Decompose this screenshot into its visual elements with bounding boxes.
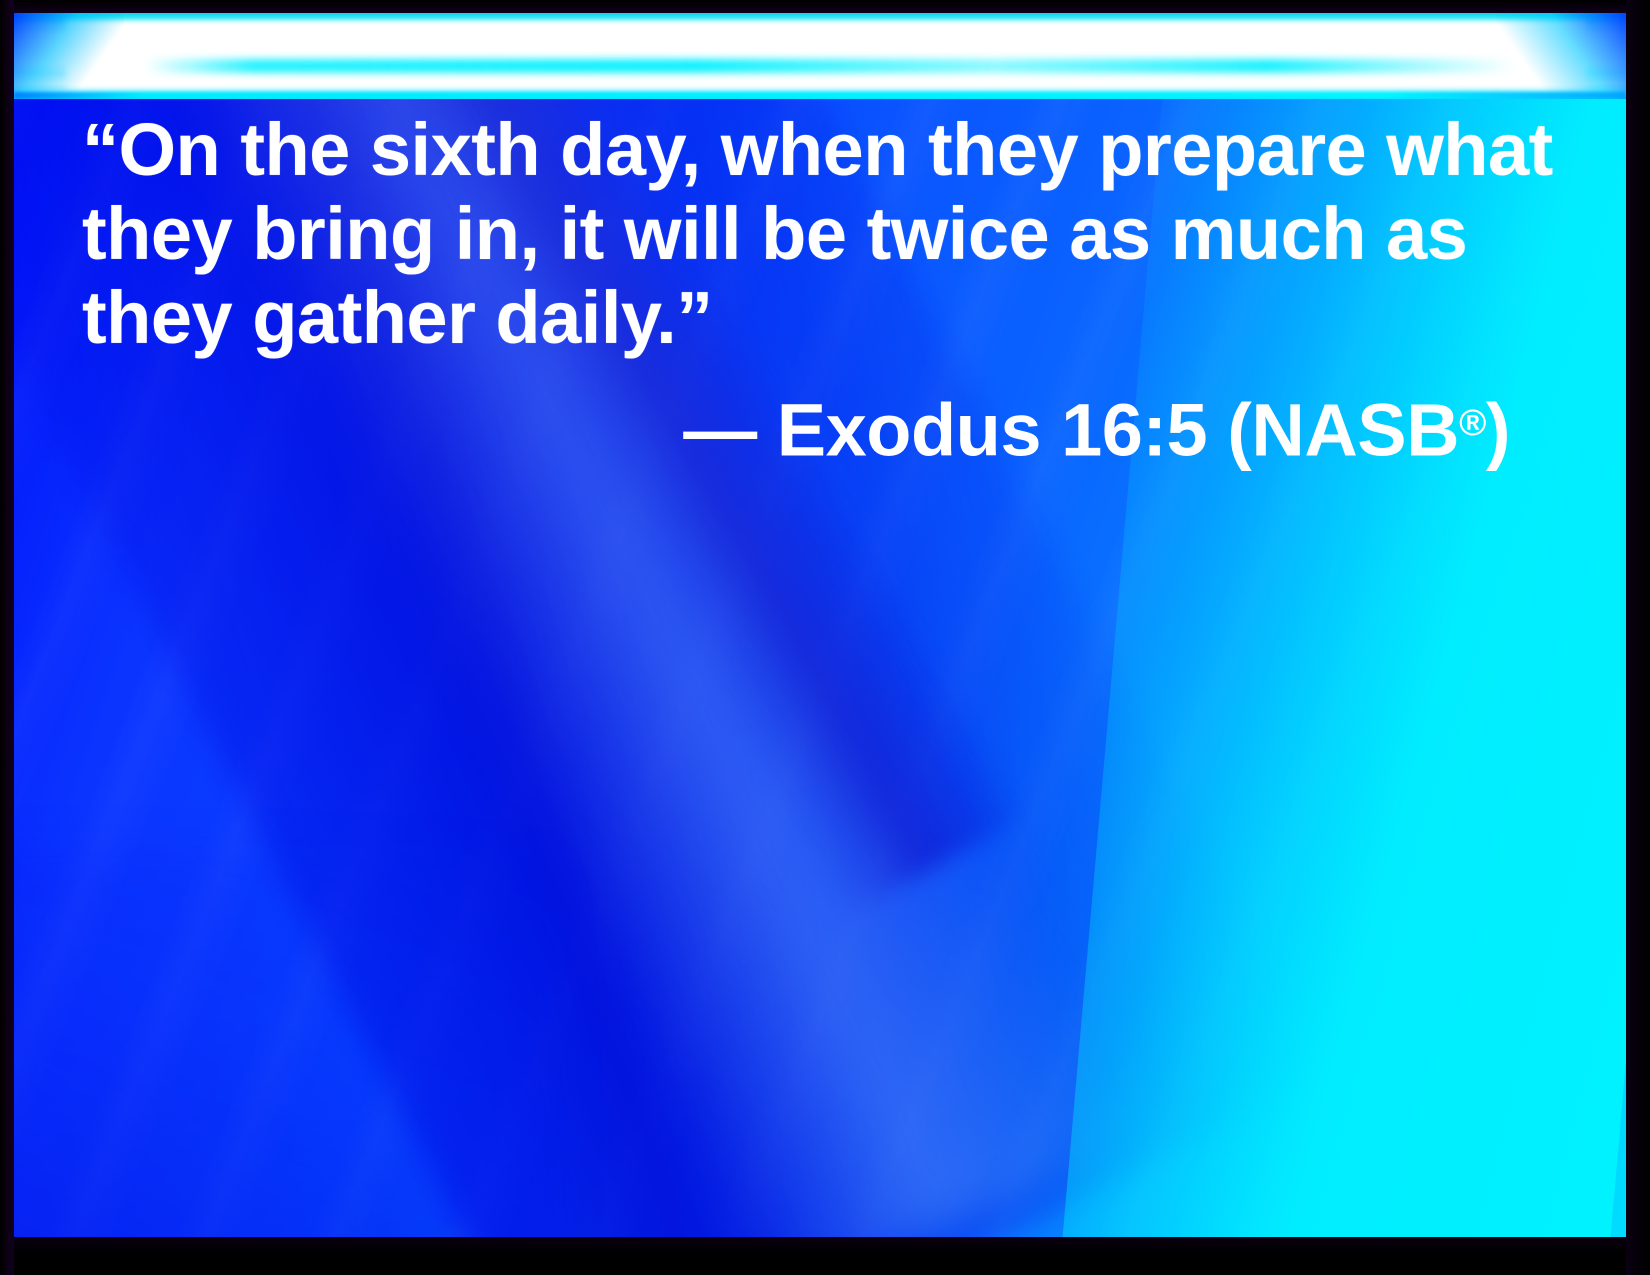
verse-line-3: they gather daily.” [82, 276, 1522, 360]
verse-line-2: they bring in, it will be twice as much … [82, 192, 1522, 276]
registered-trademark-icon: ® [1459, 402, 1486, 443]
light-bar-right-taper [1496, 13, 1626, 99]
attribution-suffix: ) [1486, 388, 1510, 471]
frame-border-right [1626, 0, 1650, 1275]
verse-line-1: “On the sixth day, when they prepare wha… [82, 108, 1522, 192]
frame-border-top [0, 0, 1650, 13]
attribution-prefix: — Exodus 16:5 (NASB [683, 388, 1459, 471]
background-bottom-wedge [14, 845, 562, 1237]
verse-text-block: “On the sixth day, when they prepare wha… [82, 108, 1522, 360]
frame-border-bottom [0, 1237, 1650, 1275]
light-bar-core [66, 21, 1586, 87]
light-bar-left-taper [14, 13, 124, 99]
top-light-bar [14, 13, 1626, 99]
light-bar-bottom-edge [14, 92, 1626, 99]
scripture-slide: “On the sixth day, when they prepare wha… [0, 0, 1650, 1275]
frame-border-left [0, 0, 14, 1275]
light-bar-cyan-stripe [144, 59, 1516, 73]
verse-attribution: — Exodus 16:5 (NASB®) [82, 381, 1522, 472]
